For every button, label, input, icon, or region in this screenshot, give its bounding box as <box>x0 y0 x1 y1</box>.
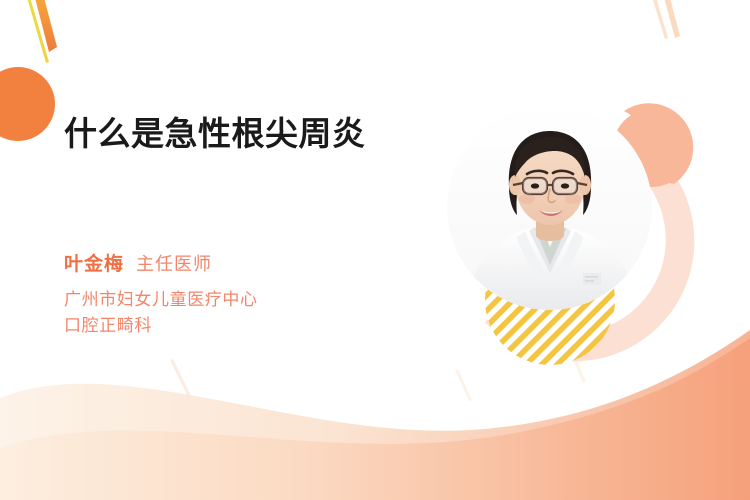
orange-circle <box>0 67 55 141</box>
hairline-stroke-right <box>570 351 586 383</box>
faint-stroke-a <box>651 0 668 39</box>
department-name: 口腔正畸科 <box>64 313 258 339</box>
page-title: 什么是急性根尖周炎 <box>64 112 414 156</box>
doctor-affiliation: 广州市妇女儿童医疗中心 口腔正畸科 <box>64 287 258 339</box>
orange-stroke <box>34 0 57 52</box>
doctor-portrait <box>447 105 652 310</box>
headline-block: 什么是急性根尖周炎 <box>64 112 414 156</box>
faint-stroke-b <box>663 0 680 38</box>
doctor-intro-card: 什么是急性根尖周炎 叶金梅 主任医师 广州市妇女儿童医疗中心 口腔正畸科 <box>0 0 750 500</box>
bottom-wave-back <box>0 330 750 500</box>
hairline-stroke-left <box>170 359 192 399</box>
doctor-title: 主任医师 <box>136 250 212 276</box>
doctor-name: 叶金梅 <box>64 249 124 276</box>
avatar <box>447 105 652 310</box>
doctor-credit: 叶金梅 主任医师 <box>64 249 212 276</box>
lime-stroke <box>26 0 49 63</box>
hospital-name: 广州市妇女儿童医疗中心 <box>64 287 258 313</box>
hairline-stroke-mid <box>455 369 472 401</box>
bottom-wave-front <box>0 338 750 500</box>
